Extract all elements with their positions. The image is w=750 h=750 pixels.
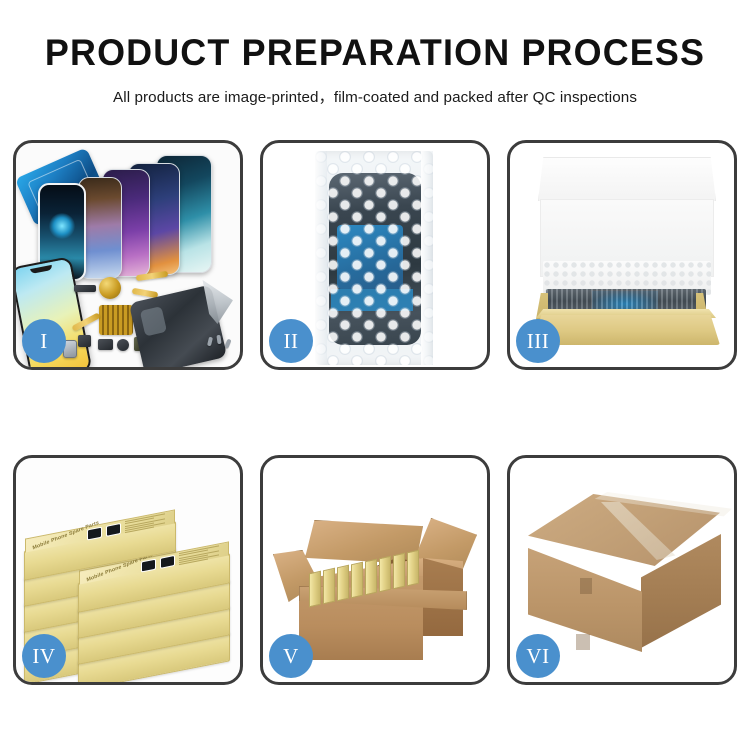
box-front-wall bbox=[532, 315, 720, 345]
connector-grid-part bbox=[99, 305, 133, 335]
header: PRODUCT PREPARATION PROCESS All products… bbox=[0, 0, 750, 107]
box-spec-lines bbox=[125, 513, 165, 533]
product-preparation-infographic: PRODUCT PREPARATION PROCESS All products… bbox=[0, 0, 750, 750]
bubble-texture-base bbox=[315, 151, 433, 365]
speaker-part bbox=[117, 339, 129, 351]
bag-edge-right bbox=[421, 151, 433, 365]
box-phone-image-1 bbox=[141, 559, 156, 573]
step-badge-2: II bbox=[269, 319, 313, 363]
bubble-wrap-bag bbox=[315, 151, 433, 365]
carton-seam-upper bbox=[580, 578, 592, 594]
step-badge-5: V bbox=[269, 634, 313, 678]
page-subtitle: All products are image-printed，film-coat… bbox=[0, 85, 750, 107]
process-step-grid: I II bbox=[13, 140, 737, 685]
coil-part bbox=[99, 277, 121, 299]
process-step-2: II bbox=[260, 140, 490, 370]
step-badge-3: III bbox=[516, 319, 560, 363]
chip-part-3 bbox=[98, 339, 113, 350]
step-badge-1: I bbox=[22, 319, 66, 363]
chip-part-2 bbox=[78, 335, 91, 347]
box-phone-image-2 bbox=[160, 555, 175, 569]
process-step-1: I bbox=[13, 140, 243, 370]
screws-group bbox=[208, 335, 234, 351]
step-badge-6: VI bbox=[516, 634, 560, 678]
box-spec-lines bbox=[179, 545, 219, 565]
box-phone-image-2 bbox=[106, 523, 121, 537]
process-step-5: V bbox=[260, 455, 490, 685]
bag-edge-left bbox=[315, 151, 327, 365]
process-step-4: Mobile Phone Spare Parts Mobile Phone Sp… bbox=[13, 455, 243, 685]
process-step-6: VI bbox=[507, 455, 737, 685]
chip-part-1 bbox=[74, 285, 96, 292]
carton-seam-lower bbox=[576, 634, 590, 650]
page-title: PRODUCT PREPARATION PROCESS bbox=[11, 34, 739, 73]
carton-contents-boxes bbox=[309, 556, 429, 590]
box-lid-panel bbox=[538, 157, 716, 201]
box-phone-image-1 bbox=[87, 527, 102, 541]
step-badge-4: IV bbox=[22, 634, 66, 678]
process-step-3: III bbox=[507, 140, 737, 370]
